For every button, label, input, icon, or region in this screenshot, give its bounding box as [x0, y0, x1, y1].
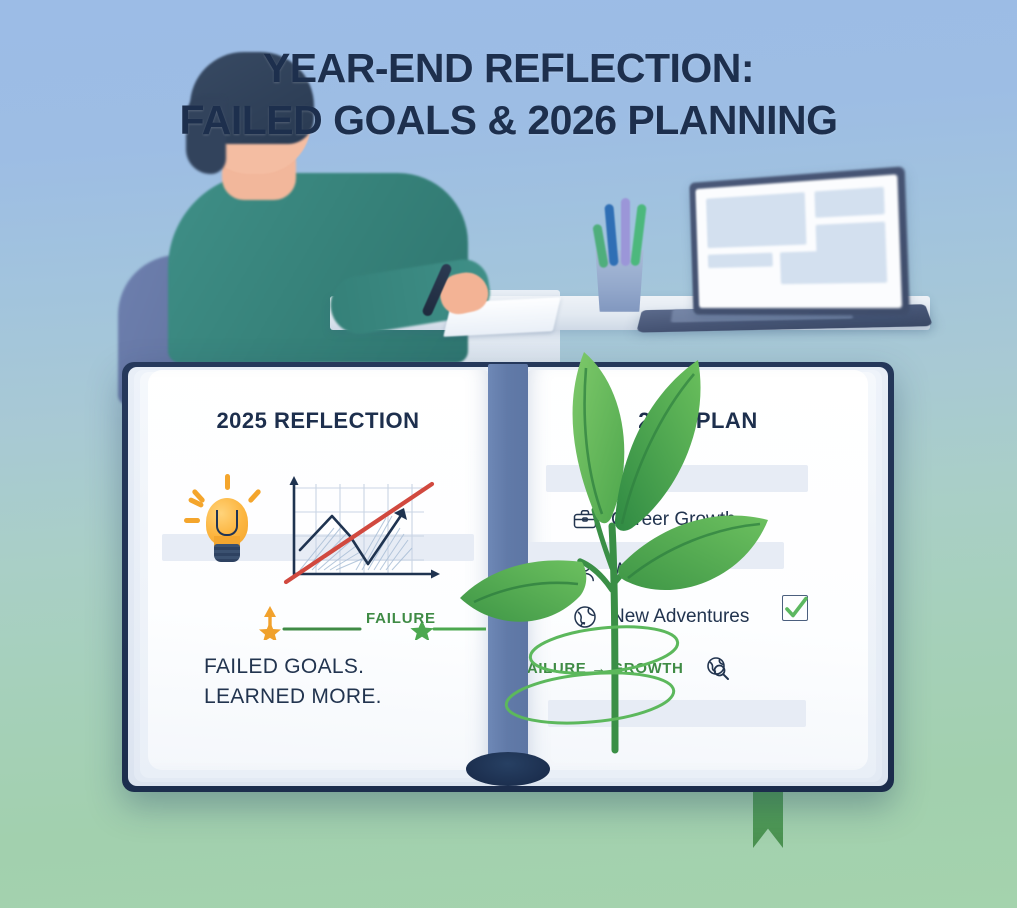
open-book: 2025 REFLECTION — [122, 362, 894, 792]
plan-item-new-adventures[interactable]: New Adventures — [572, 601, 749, 633]
wireframe-block — [816, 222, 888, 284]
book-page-right: 2026 PLAN Career Growth Wellness — [528, 370, 868, 770]
bulb-base — [214, 544, 240, 562]
check-icon — [783, 596, 809, 622]
bulb-ray — [184, 518, 200, 523]
title-line-1: YEAR-END REFLECTION: — [0, 42, 1017, 94]
book-spine — [488, 364, 528, 774]
message-line-1: FAILED GOALS. — [204, 652, 382, 682]
failure-to-growth-row: FAILURE → GROWTH — [528, 654, 731, 682]
poster-title: YEAR-END REFLECTION: FAILED GOALS & 2026… — [0, 42, 1017, 147]
bulb-ray — [225, 474, 230, 490]
globe-search-icon — [703, 654, 731, 682]
wireframe-block — [706, 192, 806, 248]
plan-item-label: Wellness — [611, 560, 688, 582]
left-page-heading: 2025 REFLECTION — [148, 408, 488, 434]
poster-canvas: YEAR-END REFLECTION: FAILED GOALS & 2026… — [0, 0, 1017, 908]
laptop-screen — [689, 166, 910, 315]
laptop-screen-content — [695, 174, 902, 308]
wireframe-block — [708, 253, 773, 268]
book-page-left: 2025 REFLECTION — [148, 370, 488, 770]
plan-item-career-growth[interactable]: Career Growth — [572, 504, 736, 536]
book-spine-base — [466, 752, 550, 786]
bulb-ray — [247, 488, 261, 503]
message-line-2: LEARNED MORE. — [204, 682, 382, 712]
failure-label: FAILURE — [366, 610, 436, 627]
lightbulb-icon — [184, 474, 270, 578]
wireframe-block — [814, 187, 884, 218]
globe-icon — [572, 604, 598, 630]
left-page-message: FAILED GOALS. LEARNED MORE. — [204, 652, 382, 713]
checkbox-new-adventures[interactable] — [782, 595, 808, 621]
failure-marker-row: FAILURE — [256, 604, 486, 640]
plan-item-label: New Adventures — [611, 606, 749, 628]
title-line-2: FAILED GOALS & 2026 PLANNING — [0, 94, 1017, 146]
growth-label: FAILURE → GROWTH — [528, 660, 683, 677]
right-page-heading: 2026 PLAN — [528, 408, 868, 434]
pen-green2-icon — [630, 204, 646, 267]
plan-item-wellness[interactable]: Wellness — [572, 555, 688, 587]
pen-purple-icon — [621, 198, 630, 266]
person-icon — [572, 558, 598, 584]
plan-item-label: Career Growth — [611, 509, 736, 531]
text-placeholder-bar — [548, 700, 806, 727]
briefcase-icon — [572, 507, 598, 533]
crossed-out-chart-icon — [264, 470, 444, 594]
bulb-filament — [216, 510, 238, 536]
text-placeholder-bar — [546, 465, 808, 492]
